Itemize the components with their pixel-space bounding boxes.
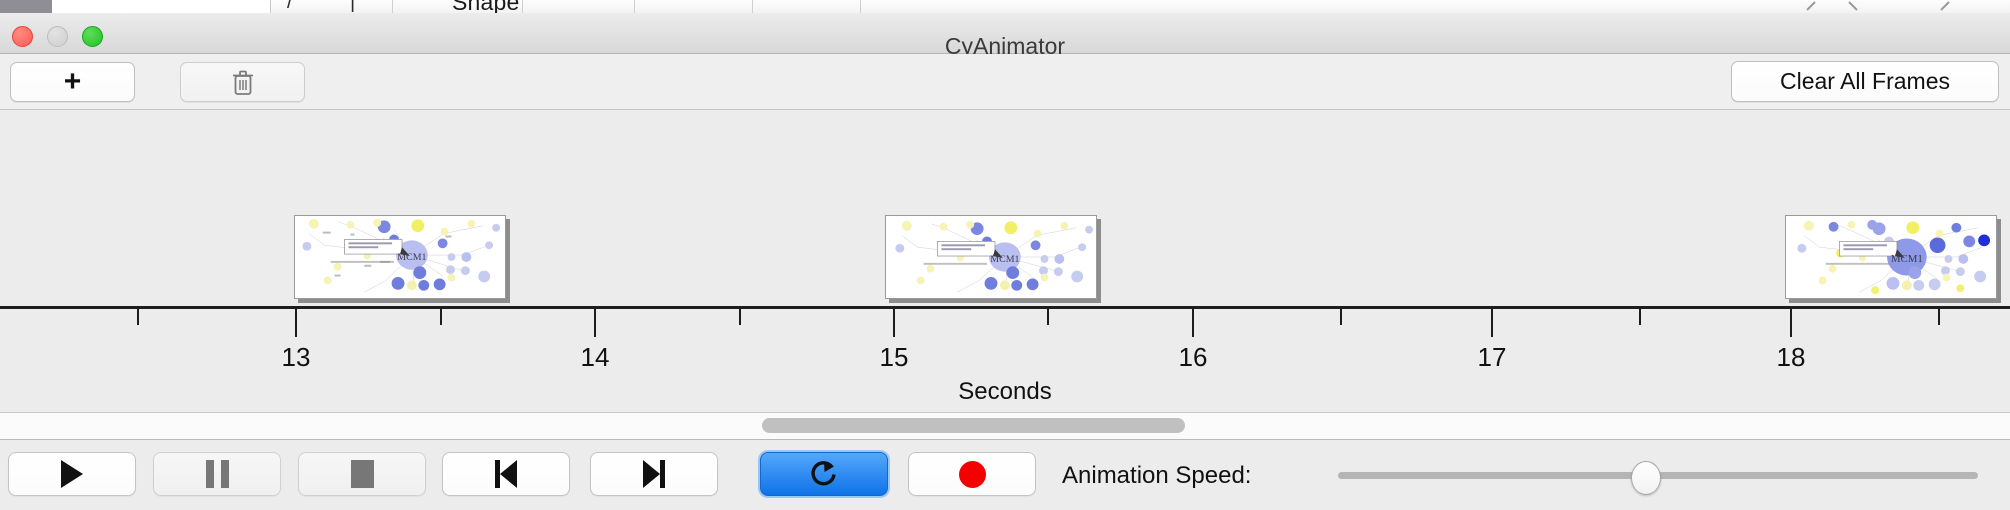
title-bar[interactable]: CyAnimator [0,13,2010,54]
ruler-tick-minor [440,309,442,325]
delete-frame-button[interactable] [180,62,305,102]
stop-button[interactable] [298,452,426,496]
prev-frame-button[interactable] [442,452,570,496]
frame-thumbnail: MCM1 [1785,215,1997,299]
ruler-tick-major [1790,309,1792,337]
ruler-tick-minor [739,309,741,325]
play-button[interactable] [8,452,136,496]
background-tab-dark [0,0,52,13]
frames-area: MCM1 [0,110,2010,306]
loop-button[interactable] [760,452,888,496]
ruler-tick-major [594,309,596,337]
toolbar: + Clear All Frames [0,54,2010,110]
thumbnail-hub-label: MCM1 [1891,253,1923,265]
background-window-label: Shape [452,0,520,14]
scrollbar-thumb[interactable] [762,418,1185,433]
timeline-panel: MCM1 [0,110,2010,413]
ruler-tick-minor [1938,309,1940,325]
plus-icon: + [64,67,82,97]
skip-back-icon [495,460,517,488]
ruler-tick-label: 13 [282,342,311,373]
playback-controls: Animation Speed: [0,440,2010,510]
thumbnail-hub-label: MCM1 [397,252,426,263]
animation-speed-label: Animation Speed: [1062,462,1251,490]
ruler-tick-major [295,309,297,337]
record-icon [959,461,986,488]
background-tab-light [52,0,271,13]
trash-icon [231,69,255,96]
ruler-tick-label: 14 [581,342,610,373]
play-icon [61,460,83,488]
ruler-tick-major [1491,309,1493,337]
ruler-baseline [0,306,2010,309]
pause-icon [206,460,229,488]
axis-title: Seconds [0,378,2010,406]
timeline-ruler[interactable]: 2131415161718 Seconds [0,306,2010,412]
skip-forward-icon [643,460,665,488]
timeline-frame-3[interactable]: MCM1 [1785,215,2001,303]
record-button[interactable] [908,452,1036,496]
frame-thumbnail: MCM1 [294,215,506,299]
ruler-tick-minor [1047,309,1049,325]
timeline-scrollbar[interactable] [0,413,2010,440]
ruler-tick-label: 17 [1478,342,1507,373]
ruler-tick-label: 16 [1179,342,1208,373]
animation-speed-slider-knob[interactable] [1631,461,1661,495]
pause-button[interactable] [153,452,281,496]
ruler-tick-label: 15 [880,342,909,373]
ruler-tick-label: 18 [1777,342,1806,373]
ruler-tick-major [1192,309,1194,337]
clear-all-frames-button[interactable]: Clear All Frames [1731,61,1999,102]
next-frame-button[interactable] [590,452,718,496]
stop-icon [351,460,374,488]
timeline-frame-2[interactable]: MCM1 [885,215,1101,303]
cyanimator-window: / | Shape CyAnimator + Clear All Frames [0,0,2010,510]
thumbnail-hub-label: MCM1 [990,254,1019,265]
loop-icon [809,458,839,490]
add-frame-button[interactable]: + [10,62,135,102]
ruler-tick-major [893,309,895,337]
background-window-strip: / | Shape [0,0,2010,14]
ruler-tick-minor [1340,309,1342,325]
frame-thumbnail: MCM1 [885,215,1097,299]
ruler-tick-minor [137,309,139,325]
ruler-tick-minor [1639,309,1641,325]
timeline-frame-1[interactable]: MCM1 [294,215,510,303]
